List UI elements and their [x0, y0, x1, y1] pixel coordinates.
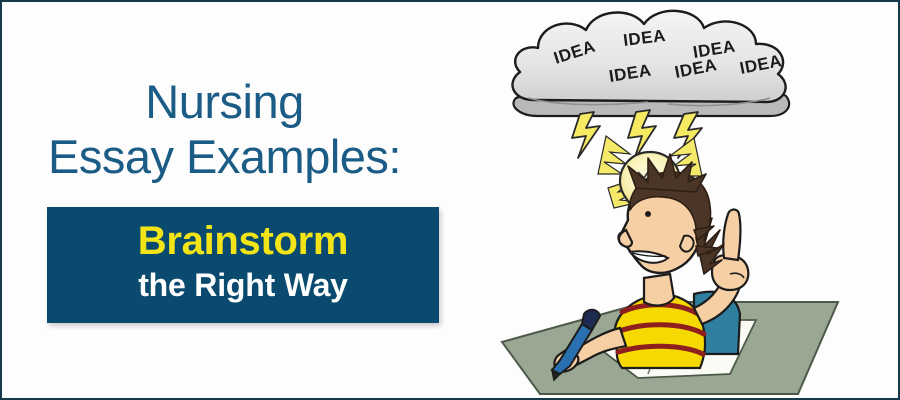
idea-storm-cloud: IDEAIDEAIDEAIDEAIDEAIDEA [512, 11, 789, 116]
callout-box: Brainstorm the Right Way [47, 207, 439, 323]
page-title: Nursing Essay Examples: [2, 74, 447, 184]
banner-image: Nursing Essay Examples: Brainstorm the R… [0, 0, 900, 400]
brainstorm-illustration: IDEAIDEAIDEAIDEAIDEAIDEA [498, 2, 898, 400]
headline-line-2: Essay Examples: [2, 129, 447, 184]
headline-line-1: Nursing [2, 74, 447, 129]
boy-writing [552, 154, 748, 380]
callout-title: Brainstorm [47, 217, 439, 265]
text-block: Nursing Essay Examples: Brainstorm the R… [2, 2, 502, 398]
callout-subtitle: the Right Way [47, 265, 439, 305]
